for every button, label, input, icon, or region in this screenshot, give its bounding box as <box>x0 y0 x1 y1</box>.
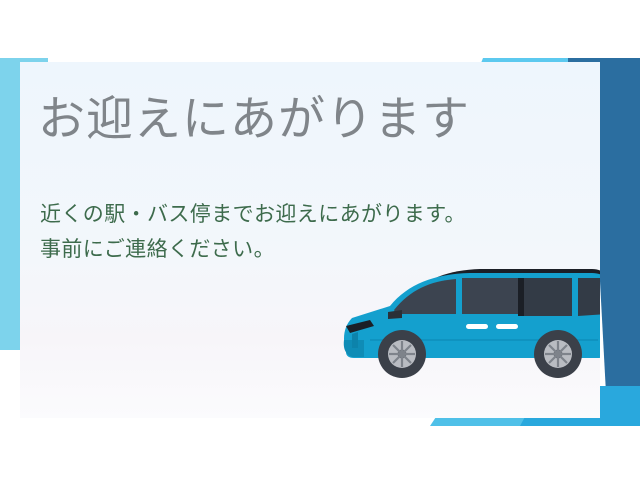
car-front-wheel <box>378 330 426 378</box>
banner-card: お迎えにあがります 近くの駅・バス停までお迎えにあがります。 事前にご連絡くださ… <box>20 62 600 418</box>
car-front-window <box>462 278 518 314</box>
minivan-illustration <box>330 254 600 394</box>
banner-body-line-1: 近くの駅・バス停までお迎えにあがります。 <box>40 198 466 233</box>
car-rear-window <box>524 278 572 316</box>
banner-heading: お迎えにあがります <box>38 94 470 143</box>
car-front-marker <box>352 332 358 348</box>
car-pillar <box>518 278 524 316</box>
car-rear-wheel <box>534 330 582 378</box>
car-door-handle-front <box>466 324 488 329</box>
promo-banner: お迎えにあがります 近くの駅・バス停までお迎えにあがります。 事前にご連絡くださ… <box>0 0 640 480</box>
car-quarter-window <box>578 278 600 316</box>
car-door-handle-rear <box>496 324 518 329</box>
